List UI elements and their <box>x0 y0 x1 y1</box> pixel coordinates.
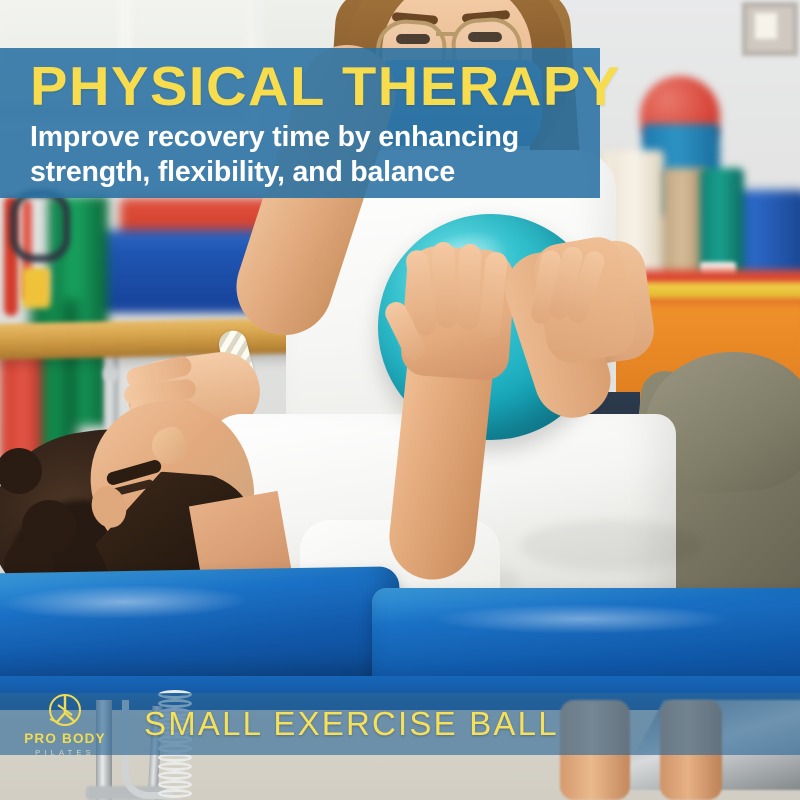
dark-resistance-band <box>10 190 70 262</box>
poster-canvas: PHYSICAL THERAPY Improve recovery time b… <box>0 0 800 800</box>
brand-tagline: PILATES <box>35 748 95 757</box>
yellow-equipment <box>22 268 50 308</box>
header-banner: PHYSICAL THERAPY Improve recovery time b… <box>0 48 600 198</box>
brand-logo[interactable]: PRO BODY PILATES <box>0 693 130 755</box>
therapist-glasses-bridge <box>436 32 456 36</box>
brand-name: PRO BODY <box>24 732 106 746</box>
patient-finger-3 <box>457 244 482 331</box>
wall-picture-frame <box>742 2 798 56</box>
patient-finger-2 <box>432 241 458 328</box>
product-title: SMALL EXERCISE BALL <box>144 705 559 743</box>
treatment-table-head-section <box>0 566 401 685</box>
banner-subtitle: Improve recovery time by enhancing stren… <box>30 120 570 190</box>
bar-knob-1 <box>103 366 119 382</box>
shirt-fold-2 <box>520 520 700 570</box>
footer-bar: PRO BODY PILATES SMALL EXERCISE BALL <box>0 693 800 755</box>
pilates-figure-circle-icon <box>44 691 86 733</box>
page-title: PHYSICAL THERAPY <box>30 58 587 114</box>
